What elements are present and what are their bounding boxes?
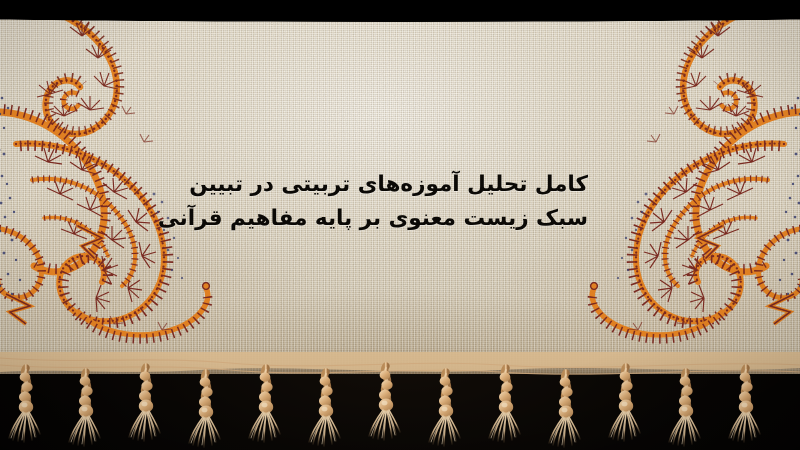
banner-title: کامل تحلیل آموزه‌های تربیتی در تبیین سبک…: [198, 168, 588, 236]
textile-banner-canvas: کامل تحلیل آموزه‌های تربیتی در تبیین سبک…: [0, 0, 800, 450]
cloth-hem-shadow: [0, 348, 800, 374]
title-line-1: کامل تحلیل آموزه‌های تربیتی در تبیین: [198, 168, 588, 202]
title-line-2: سبک زیست معنوی بر پایه مفاهیم قرآنی: [198, 202, 588, 236]
linen-cloth: کامل تحلیل آموزه‌های تربیتی در تبیین سبک…: [0, 0, 800, 374]
